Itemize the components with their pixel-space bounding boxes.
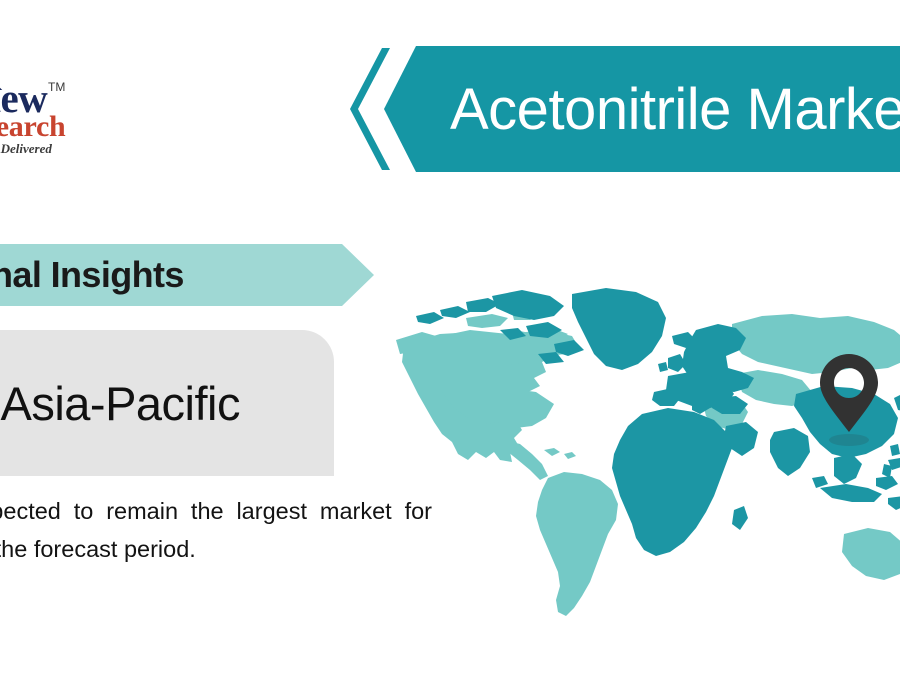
logo-tagline: Insights Delivered: [0, 141, 52, 157]
page-title: Acetonitrile Market: [450, 46, 900, 172]
logo-trademark: TM: [48, 80, 65, 94]
location-pin-icon: [816, 352, 882, 448]
regional-insights-tab: Regional Insights: [0, 244, 374, 306]
region-description-text: Asia-Pacific is expected to remain the l…: [0, 498, 432, 562]
world-map: [396, 282, 900, 640]
slide-canvas: View TM Research Insights Delivered Acet…: [0, 0, 900, 700]
regional-insights-label: Regional Insights: [0, 244, 184, 306]
logo-name-secondary: Research: [0, 110, 65, 144]
company-logo: View TM Research Insights Delivered: [0, 28, 138, 153]
region-name: Asia-Pacific: [0, 330, 334, 476]
region-name-box: Asia-Pacific: [0, 330, 334, 476]
header-banner: Acetonitrile Market: [346, 46, 900, 172]
region-description: Asia-Pacific is expected to remain the l…: [0, 492, 432, 568]
